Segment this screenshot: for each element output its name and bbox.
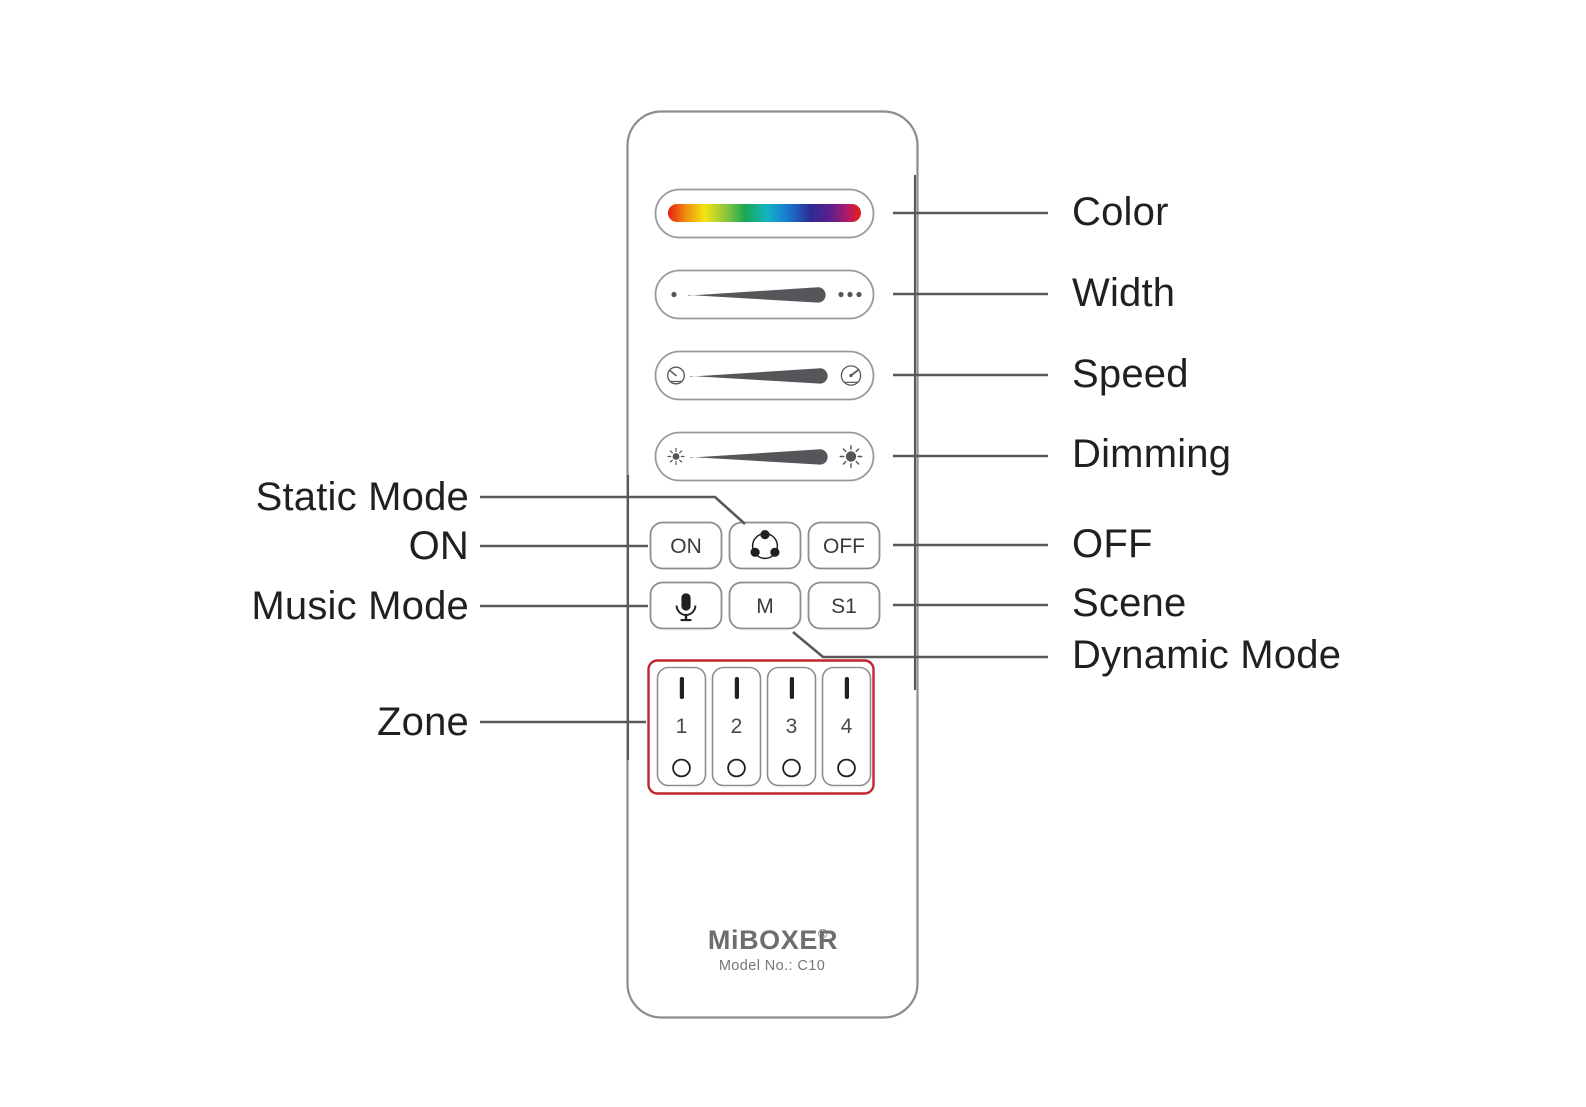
button-on[interactable]: ON bbox=[651, 523, 722, 569]
button-dynamic-mode-label: M bbox=[756, 595, 774, 618]
callout-color: Color bbox=[1072, 192, 1169, 232]
brand-logo: MiBOXER ® bbox=[708, 925, 838, 955]
callout-dynamic-mode-label: Dynamic Mode bbox=[1072, 633, 1341, 677]
callout-speed-label: Speed bbox=[1072, 352, 1189, 396]
callout-music-mode: Music Mode bbox=[251, 586, 469, 626]
zone-key-4[interactable]: 4 bbox=[823, 668, 871, 786]
slider-color[interactable] bbox=[656, 190, 874, 238]
callout-static-mode: Static Mode bbox=[256, 477, 469, 517]
callout-speed: Speed bbox=[1072, 354, 1189, 394]
callout-off-label: OFF bbox=[1072, 522, 1153, 566]
button-on-label: ON bbox=[670, 535, 702, 558]
bar-icon bbox=[735, 677, 739, 699]
button-off-label: OFF bbox=[823, 535, 865, 558]
callout-dynamic-mode: Dynamic Mode bbox=[1072, 635, 1341, 675]
callout-dimming-label: Dimming bbox=[1072, 432, 1231, 476]
zone-key-2[interactable]: 2 bbox=[713, 668, 761, 786]
callout-scene-label: Scene bbox=[1072, 581, 1186, 625]
slider-width[interactable] bbox=[656, 271, 874, 319]
small-sun-icon bbox=[668, 449, 684, 465]
bar-icon bbox=[790, 677, 794, 699]
button-scene-label: S1 bbox=[831, 595, 857, 618]
zone-key-4-number: 4 bbox=[841, 715, 853, 738]
model-number: Model No.: C10 bbox=[719, 958, 825, 974]
button-static-mode[interactable] bbox=[730, 523, 801, 569]
callout-color-label: Color bbox=[1072, 190, 1169, 234]
callout-on-label: ON bbox=[409, 524, 469, 568]
zone-key-1-number: 1 bbox=[676, 715, 688, 738]
callout-width-label: Width bbox=[1072, 271, 1175, 315]
button-music-mode[interactable] bbox=[651, 583, 722, 629]
callout-on: ON bbox=[409, 526, 469, 566]
slider-speed[interactable] bbox=[656, 352, 874, 400]
zone-key-2-number: 2 bbox=[731, 715, 743, 738]
color-gradient-bar bbox=[668, 204, 861, 222]
callout-zone: Zone bbox=[377, 702, 469, 742]
callout-music-mode-label: Music Mode bbox=[251, 584, 469, 628]
callout-dimming: Dimming bbox=[1072, 434, 1231, 474]
diagram-canvas: ON OFF M bbox=[0, 0, 1586, 1107]
large-sun-icon bbox=[840, 446, 861, 467]
callout-scene: Scene bbox=[1072, 583, 1186, 623]
slider-dimming[interactable] bbox=[656, 433, 874, 481]
callout-static-mode-label: Static Mode bbox=[256, 475, 469, 519]
brand-registered-icon: ® bbox=[818, 926, 828, 941]
button-scene[interactable]: S1 bbox=[809, 583, 880, 629]
bar-icon bbox=[845, 677, 849, 699]
callout-zone-label: Zone bbox=[377, 700, 469, 744]
zone-key-1[interactable]: 1 bbox=[658, 668, 706, 786]
small-dot-icon bbox=[671, 292, 676, 297]
callout-width: Width bbox=[1072, 273, 1175, 313]
three-dots-icon bbox=[838, 292, 861, 297]
callout-off: OFF bbox=[1072, 524, 1153, 564]
bar-icon bbox=[680, 677, 684, 699]
zone-key-3-number: 3 bbox=[786, 715, 798, 738]
remote-illustration: ON OFF M bbox=[0, 0, 1586, 1107]
button-dynamic-mode[interactable]: M bbox=[730, 583, 801, 629]
zone-key-3[interactable]: 3 bbox=[768, 668, 816, 786]
button-off[interactable]: OFF bbox=[809, 523, 880, 569]
